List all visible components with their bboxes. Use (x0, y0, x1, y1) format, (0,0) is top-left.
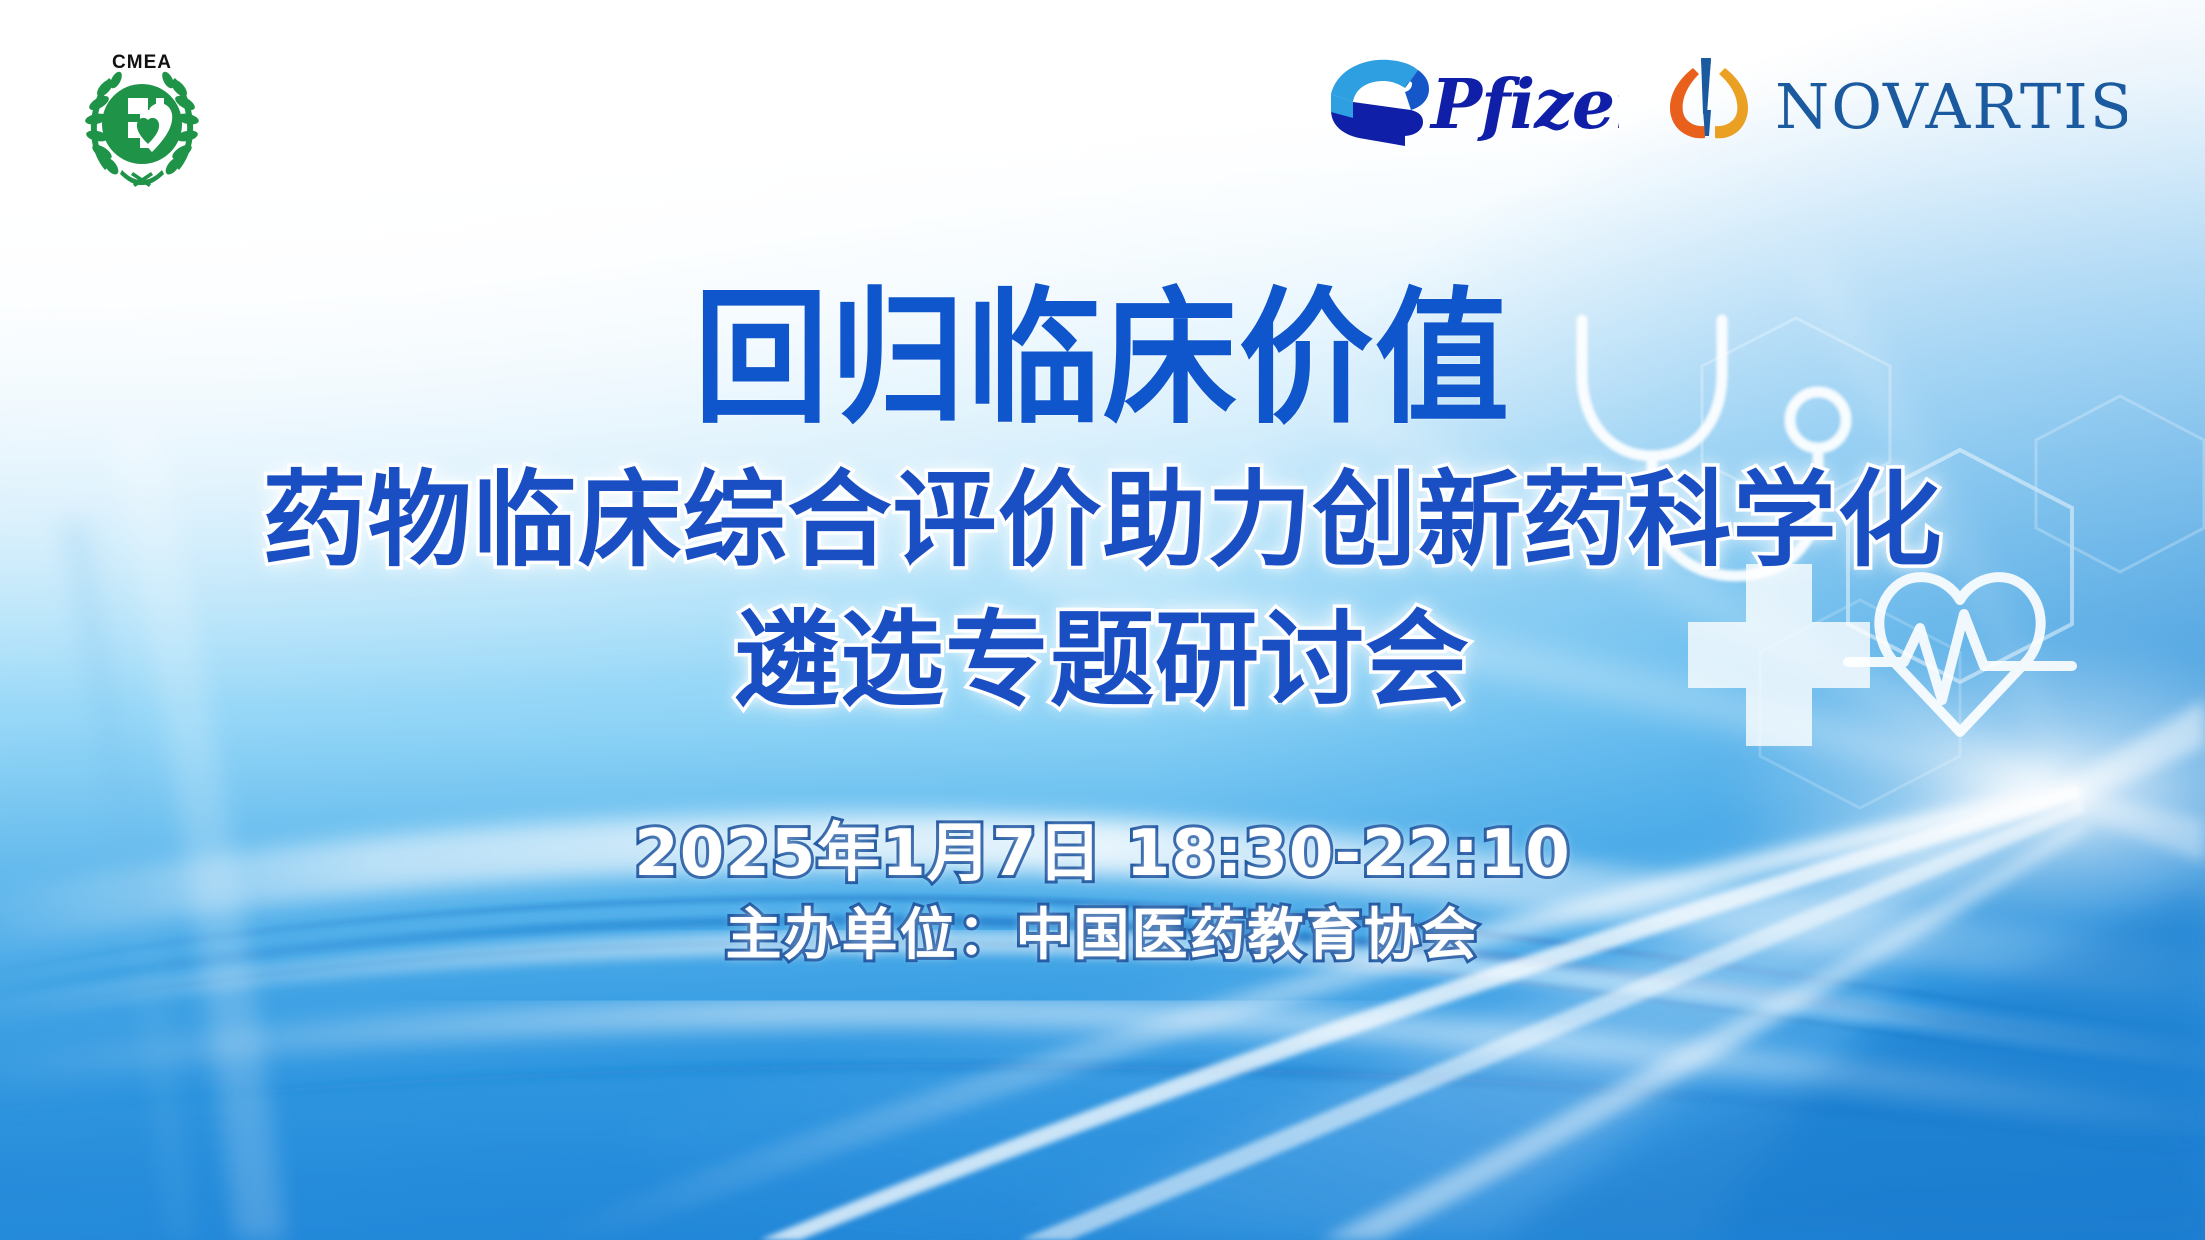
page-title: 回归临床价值 (88, 286, 2117, 432)
event-host: 主办单位：中国医药教育协会 (0, 908, 2205, 964)
svg-text:CMEA: CMEA (112, 52, 172, 73)
sponsor-logo-row: Pfizer NOVARTIS (1319, 48, 2127, 154)
event-datetime: 2025年1月7日 18:30-22:10 (0, 822, 2205, 886)
svg-text:NOVARTIS: NOVARTIS (1775, 70, 2127, 143)
novartis-logo: NOVARTIS (1657, 48, 2127, 154)
conference-banner: CMEA (0, 0, 2205, 1240)
pfizer-logo: Pfizer (1319, 48, 1619, 154)
pfizer-ribbon-icon (1331, 60, 1429, 146)
subtitle-line-2: 遴选专题研讨会 (0, 608, 2205, 712)
cmea-logo: CMEA (78, 48, 206, 188)
subtitle-line-1: 药物临床综合评价助力创新药科学化 (0, 468, 2205, 572)
novartis-flame-icon (1670, 58, 1748, 138)
svg-text:Pfizer: Pfizer (1429, 65, 1619, 145)
